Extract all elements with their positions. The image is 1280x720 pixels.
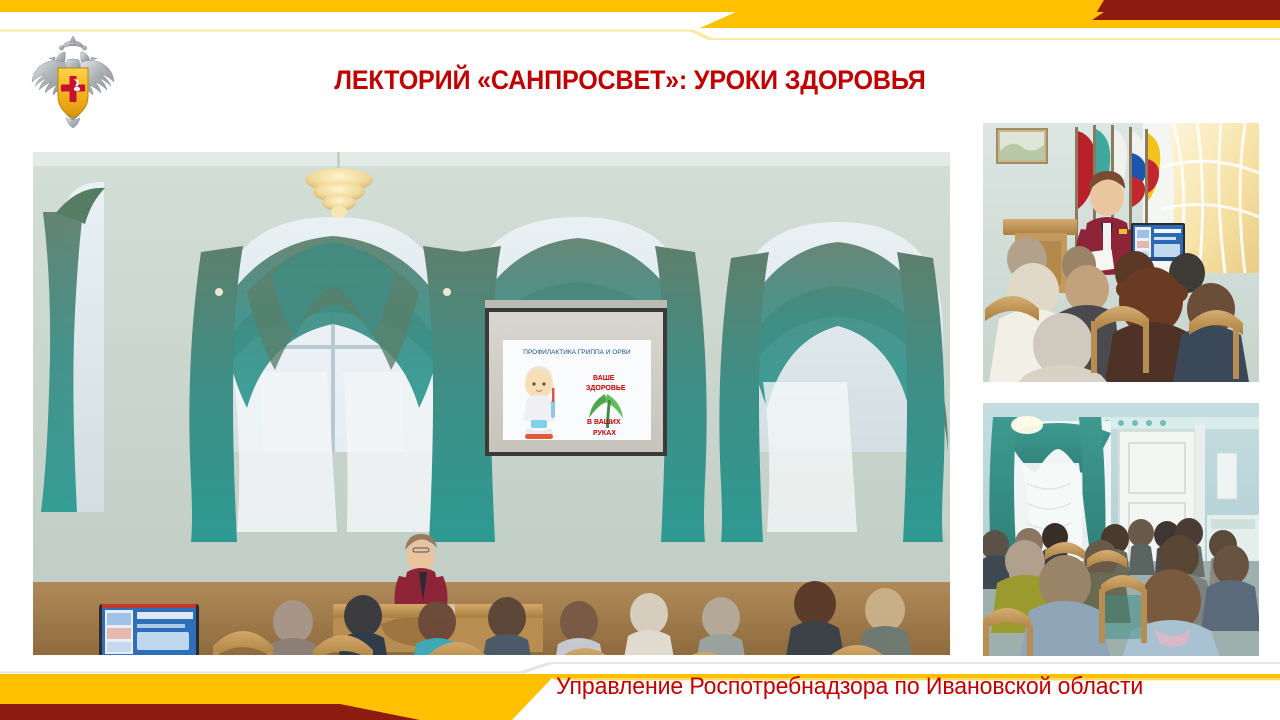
photo-lecture-hall-main: ПРОФИЛАКТИКА ГРИППА И ОРВИ [33,152,950,655]
footer-organization: Управление Роспотребнадзора по Ивановско… [556,673,1143,701]
white-wedge-left [0,12,736,28]
slogan-line-2: ЗДОРОВЬЕ [586,385,626,392]
projection-screen: ПРОФИЛАКТИКА ГРИППА И ОРВИ [485,300,667,456]
slogan-line-1: ВАШЕ [593,375,615,382]
window-bay-left [41,182,105,512]
screen-slide-heading: ПРОФИЛАКТИКА ГРИППА И ОРВИ [523,349,631,356]
gold-band-top [0,0,1280,12]
dark-red-wedge [1092,0,1280,20]
window-bay-center-left [189,217,476,542]
page-title: ЛЕКТОРИЙ «САНПРОСВЕТ»: УРОКИ ЗДОРОВЬЯ [193,66,1067,96]
slogan-line-3: В ВАШИХ [587,419,621,426]
slogan-line-4: РУКАХ [593,430,616,437]
photo-audience [983,403,1259,661]
speaker-head [407,540,435,572]
wall-monitor [99,604,199,655]
photo-speaker-podium [983,123,1259,382]
presentation-slide: ЛЕКТОРИЙ «САНПРОСВЕТ»: УРОКИ ЗДОРОВЬЯ [0,0,1280,720]
window-bay-right [719,222,948,542]
top-decorative-banner [0,0,1280,48]
rospotrebnadzor-emblem [25,32,121,136]
bottom-decorative-banner: Управление Роспотребнадзора по Ивановско… [0,656,1280,720]
